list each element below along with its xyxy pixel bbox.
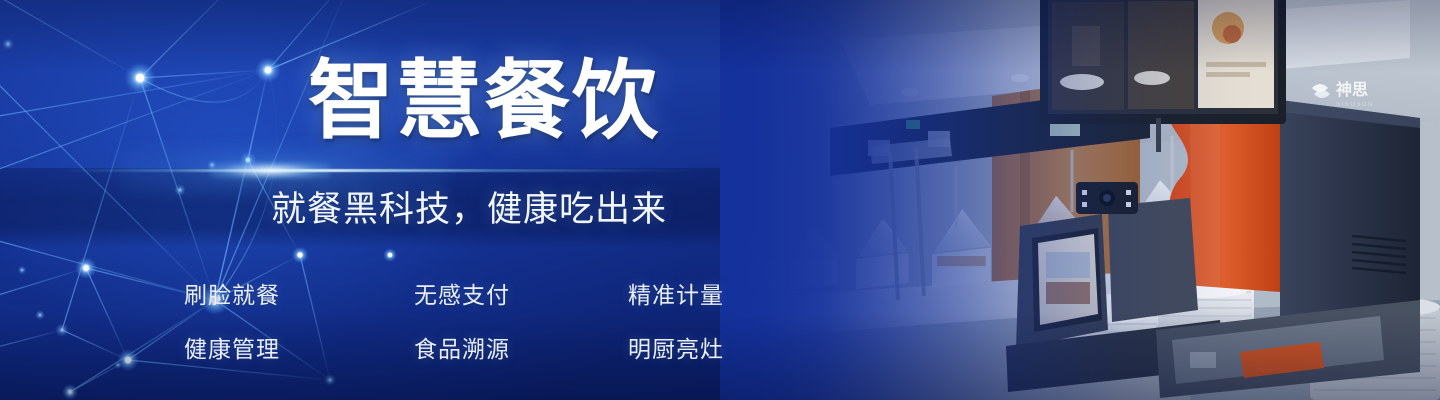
feature-item: 健康管理 xyxy=(184,338,414,361)
feature-item: 精准计量 xyxy=(628,284,724,307)
banner-content: 智慧餐饮 就餐黑科技，健康吃出来 刷脸就餐 无感支付 精准计量 健康管理 食品溯… xyxy=(0,0,860,400)
feature-list: 刷脸就餐 无感支付 精准计量 健康管理 食品溯源 明厨亮灶 xyxy=(184,268,724,376)
feature-item: 刷脸就餐 xyxy=(184,284,414,307)
banner-subtitle: 就餐黑科技，健康吃出来 xyxy=(271,192,667,227)
banner-title: 智慧餐饮 xyxy=(308,58,660,144)
feature-item: 无感支付 xyxy=(414,284,628,307)
svg-text:SINOSUN: SINOSUN xyxy=(1336,102,1374,108)
digital-menu-screen xyxy=(1040,0,1286,124)
promo-banner: 神思 SINOSUN xyxy=(0,0,1440,400)
feature-item: 明厨亮灶 xyxy=(628,338,724,361)
svg-text:神思: 神思 xyxy=(1336,80,1368,99)
feature-item: 食品溯源 xyxy=(414,338,628,361)
